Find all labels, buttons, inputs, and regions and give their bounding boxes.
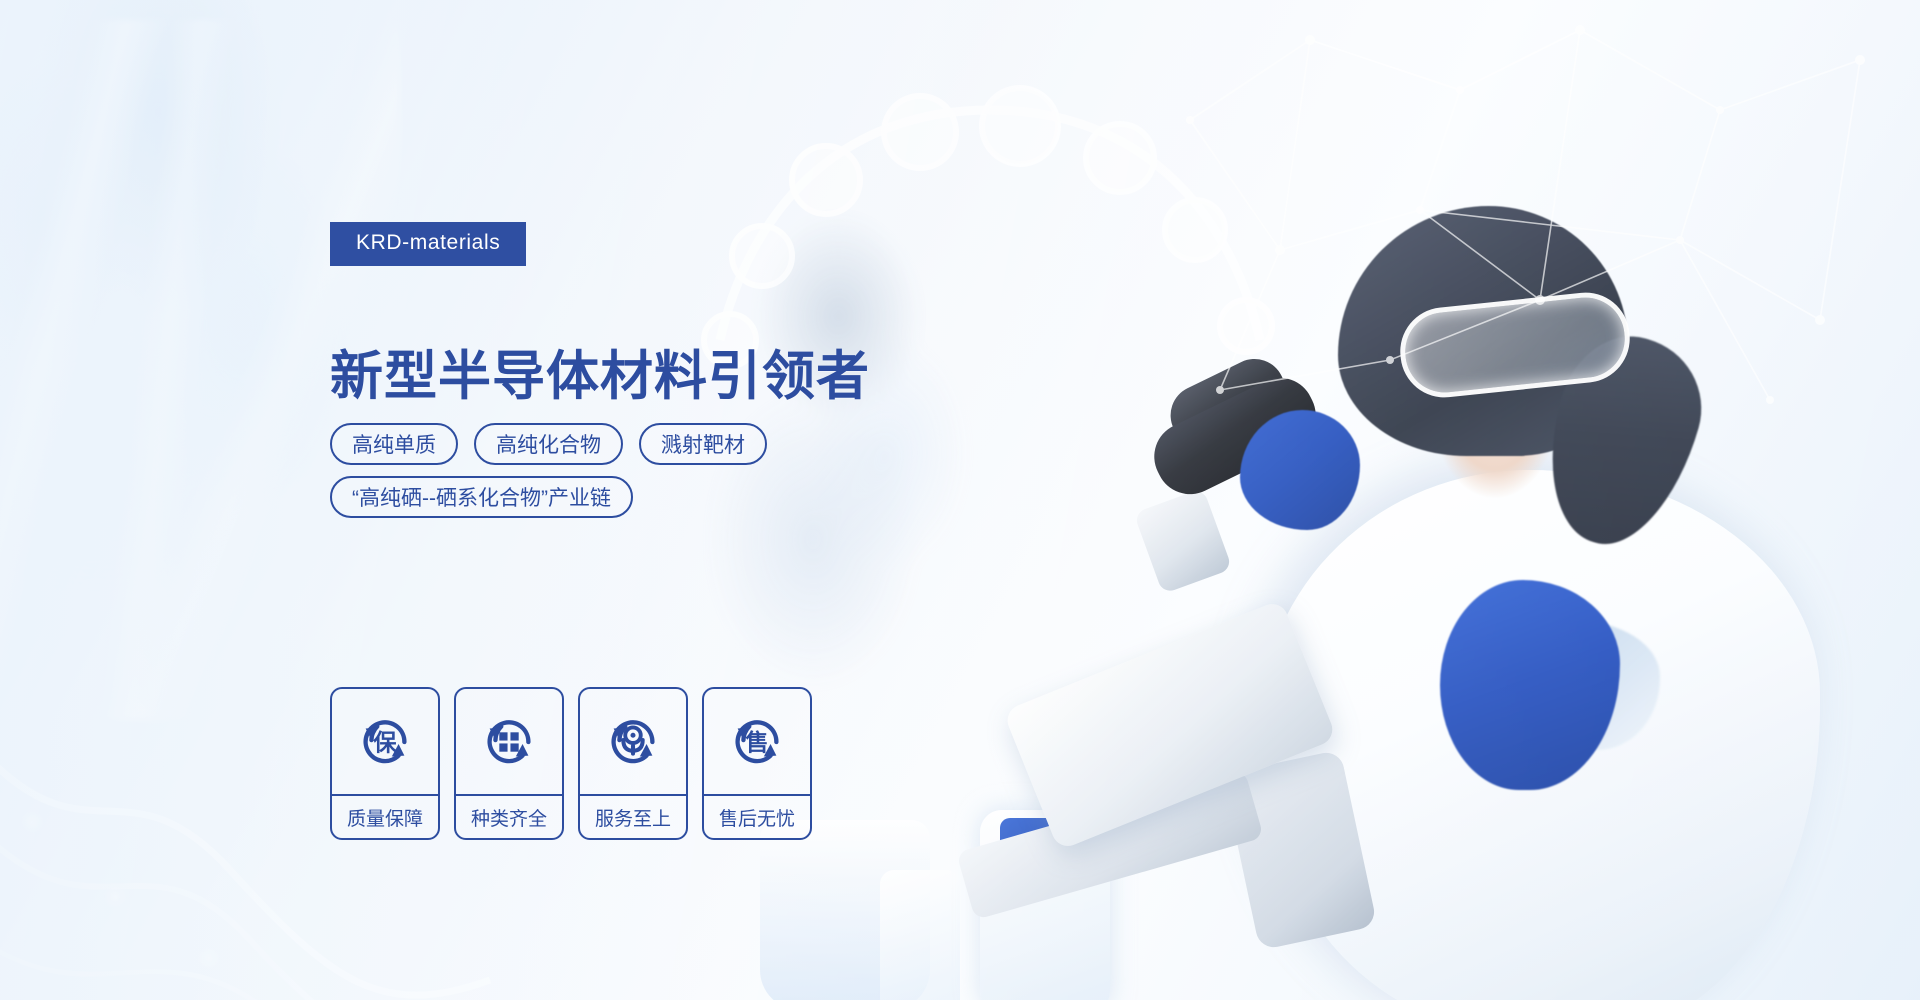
tag-pill-selenium-industry-chain[interactable]: “高纯硒--硒系化合物”产业链 <box>330 476 633 518</box>
tag-pill-high-purity-compound[interactable]: 高纯化合物 <box>474 423 623 465</box>
tag-row-secondary: “高纯硒--硒系化合物”产业链 <box>330 476 633 518</box>
tag-pill-sputtering-target[interactable]: 溅射靶材 <box>639 423 767 465</box>
svg-text:售: 售 <box>745 729 768 755</box>
after-sales-icon: 售 <box>704 689 810 794</box>
service-first-icon <box>580 689 686 794</box>
feature-label-quality-guarantee: 质量保障 <box>332 794 438 838</box>
page-title: 新型半导体材料引领者 <box>330 334 870 410</box>
tag-pill-high-purity-element[interactable]: 高纯单质 <box>330 423 458 465</box>
feature-label-service-first: 服务至上 <box>580 794 686 838</box>
feature-label-full-category: 种类齐全 <box>456 794 562 838</box>
tag-row-primary: 高纯单质 高纯化合物 溅射靶材 <box>330 423 767 465</box>
hero-banner: KRD-materials 新型半导体材料引领者 高纯单质 高纯化合物 溅射靶材… <box>0 0 1920 1000</box>
quality-guarantee-icon: 保 <box>332 689 438 794</box>
feature-card-quality-guarantee[interactable]: 保 质量保障 <box>330 687 440 840</box>
hero-content: KRD-materials 新型半导体材料引领者 高纯单质 高纯化合物 溅射靶材… <box>330 0 1090 1000</box>
feature-card-service-first[interactable]: 服务至上 <box>578 687 688 840</box>
feature-card-full-category[interactable]: 种类齐全 <box>454 687 564 840</box>
feature-card-list: 保 质量保障 <box>330 687 812 840</box>
full-category-icon <box>456 689 562 794</box>
brand-badge: KRD-materials <box>330 222 526 266</box>
scientist-glove-left <box>1240 410 1360 530</box>
svg-text:保: 保 <box>372 729 397 755</box>
feature-label-after-sales: 售后无忧 <box>704 794 810 838</box>
feature-card-after-sales[interactable]: 售 售后无忧 <box>702 687 812 840</box>
